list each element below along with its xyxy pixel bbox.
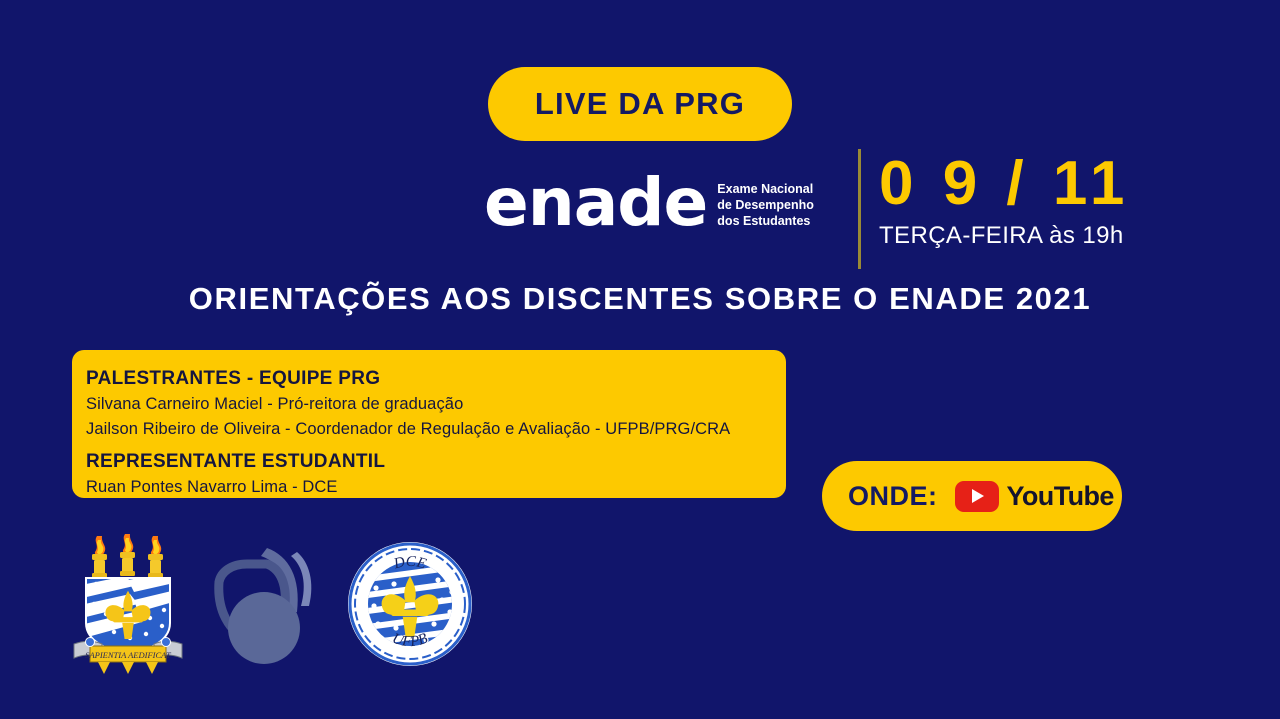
where-label: ONDE:: [848, 481, 938, 512]
enade-logo: enade Exame Nacional de Desempenho dos E…: [484, 172, 814, 235]
speaker-item: Ruan Pontes Navarro Lima - DCE: [86, 475, 786, 501]
youtube-wordmark: YouTube: [1007, 481, 1114, 512]
enade-wordmark: enade: [484, 172, 707, 235]
speakers-heading: PALESTRANTES - EQUIPE PRG: [86, 367, 786, 392]
dce-top-text: DCE: [391, 554, 428, 573]
dce-ufpb-seal-logo: DCE UFPB: [346, 540, 474, 673]
torches-group: [92, 534, 163, 578]
speakers-panel: PALESTRANTES - EQUIPE PRG Silvana Carnei…: [72, 350, 786, 498]
event-date-block: 0 9 / 11 TERÇA-FEIRA às 19h: [858, 149, 1130, 269]
enade-subtitle: Exame Nacional de Desempenho dos Estudan…: [717, 181, 814, 229]
enade-subtitle-line-1: Exame Nacional: [717, 182, 813, 196]
student-representative-heading: REPRESENTANTE ESTUDANTIL: [86, 450, 786, 475]
speaker-item: Jailson Ribeiro de Oliveira - Coordenado…: [86, 417, 786, 443]
event-weekday-time: TERÇA-FEIRA às 19h: [879, 222, 1130, 250]
dce-ufpb-seal-icon: DCE UFPB: [346, 540, 474, 668]
ufpb-motto-text: SAPIENTIA AEDIFICAT: [85, 650, 172, 660]
play-triangle-icon: [972, 489, 984, 503]
enade-subtitle-line-2: de Desempenho: [717, 198, 814, 212]
speaker-item: Silvana Carneiro Maciel - Pró-reitora de…: [86, 392, 786, 418]
live-da-prg-badge: LIVE DA PRG: [488, 67, 792, 141]
youtube-logo[interactable]: YouTube: [955, 481, 1114, 512]
prg-ufpb-icon: [205, 534, 330, 674]
where-badge[interactable]: ONDE: YouTube: [822, 461, 1122, 531]
ufpb-coat-of-arms-logo: SAPIENTIA AEDIFICAT: [68, 528, 188, 683]
youtube-play-icon: [955, 481, 999, 512]
logo-strip: SAPIENTIA AEDIFICAT: [58, 528, 478, 688]
live-da-prg-label: LIVE DA PRG: [535, 86, 745, 122]
poster-canvas: LIVE DA PRG enade Exame Nacional de Dese…: [0, 0, 1280, 719]
event-date: 0 9 / 11: [879, 149, 1130, 218]
ufpb-coat-of-arms-icon: SAPIENTIA AEDIFICAT: [68, 528, 188, 678]
enade-subtitle-line-3: dos Estudantes: [717, 214, 810, 228]
prg-ufpb-logo: [205, 534, 330, 679]
page-title: ORIENTAÇÕES AOS DISCENTES SOBRE O ENADE …: [0, 281, 1280, 317]
